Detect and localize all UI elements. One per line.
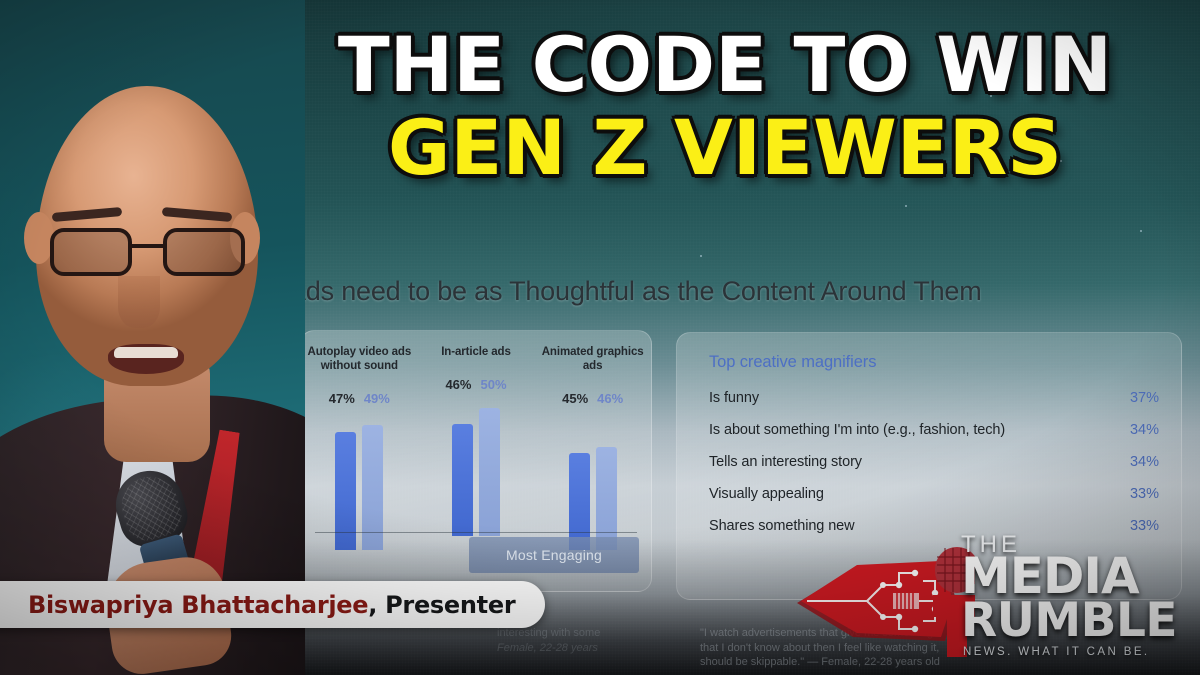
glasses-bridge (132, 244, 167, 248)
presenter-name-banner: Biswapriya Bhattacharjee , Presenter (0, 581, 545, 628)
bar-chart-card: Autoplay video ads without sound 47% 49%… (300, 330, 652, 592)
magnifier-label: Visually appealing (709, 486, 824, 502)
bar-value-light: 49% (364, 391, 390, 406)
glasses-lens-right (163, 228, 245, 276)
slide-quote-left-line2: Female, 22-28 years (497, 641, 647, 656)
bar-group-values: 45% 46% (539, 391, 647, 406)
chart-axis-line (315, 532, 637, 533)
sparkle-dot (700, 255, 702, 257)
most-engaging-banner: Most Engaging (469, 537, 639, 573)
bar-light (596, 447, 617, 550)
bar-group: Autoplay video ads without sound 47% 49% (305, 345, 413, 550)
logo-mark-icon (795, 541, 975, 659)
presenter-mouth (108, 344, 184, 374)
magnifier-row: Tells an interesting story 34% (709, 454, 1159, 470)
bar-group-bars (422, 396, 530, 536)
sparkle-dot (905, 205, 907, 207)
logo-wordmark: THE MEDIA RUMBLE NEWS. WHAT IT CAN BE. (961, 533, 1200, 658)
bar-chart-groups: Autoplay video ads without sound 47% 49%… (301, 345, 651, 550)
bar-group-label: In-article ads (422, 345, 530, 359)
bar-value-light: 46% (597, 391, 623, 406)
magnifier-row: Is about something I'm into (e.g., fashi… (709, 422, 1159, 438)
presenter-photo (0, 0, 305, 675)
bar-value-dark: 45% (562, 391, 588, 406)
thumbnail-title: THE CODE TO WIN GEN Z VIEWERS (300, 28, 1150, 186)
bar-group-label: Autoplay video ads without sound (305, 345, 413, 373)
bar-group-label: Animated graphics ads (539, 345, 647, 373)
presenter-role: , Presenter (368, 591, 515, 619)
glasses-lens-left (50, 228, 132, 276)
magnifier-label: Shares something new (709, 518, 855, 534)
magnifiers-title: Top creative magnifiers (709, 353, 1159, 372)
title-line-2: GEN Z VIEWERS (300, 110, 1150, 186)
glasses-icon (46, 228, 251, 278)
magnifier-label: Is about something I'm into (e.g., fashi… (709, 422, 1005, 438)
bar-group-values: 46% 50% (422, 377, 530, 392)
bar-dark (569, 453, 590, 550)
magnifier-value: 34% (1130, 454, 1159, 470)
bar-value-light: 50% (480, 377, 506, 392)
bar-value-dark: 46% (445, 377, 471, 392)
magnifier-label: Is funny (709, 390, 759, 406)
bar-value-dark: 47% (329, 391, 355, 406)
magnifier-value: 33% (1130, 518, 1159, 534)
magnifier-value: 34% (1130, 422, 1159, 438)
magnifier-value: 37% (1130, 390, 1159, 406)
magnifier-row: Shares something new 33% (709, 518, 1159, 534)
bar-light (479, 408, 500, 536)
presenter-name: Biswapriya Bhattacharjee (28, 591, 368, 619)
slide-quote-left: interesting with some Female, 22-28 year… (497, 626, 647, 655)
presenter-nose (118, 276, 160, 328)
logo-rumble: RUMBLE (961, 599, 1200, 642)
bar-dark (452, 424, 473, 536)
logo-tagline: NEWS. WHAT IT CAN BE. (963, 646, 1200, 658)
bar-group-values: 47% 49% (305, 391, 413, 406)
title-line-1: THE CODE TO WIN (300, 28, 1150, 102)
thumbnail-canvas: Ads need to be as Thoughtful as the Cont… (0, 0, 1200, 675)
slide-quote-left-line1: interesting with some (497, 626, 647, 641)
magnifier-row: Visually appealing 33% (709, 486, 1159, 502)
bar-group-bars (539, 410, 647, 550)
magnifier-value: 33% (1130, 486, 1159, 502)
bar-group: Animated graphics ads 45% 46% (539, 345, 647, 550)
presenter-teeth (114, 347, 178, 358)
magnifier-row: Is funny 37% (709, 390, 1159, 406)
magnifier-label: Tells an interesting story (709, 454, 862, 470)
bar-group: In-article ads 46% 50% (422, 345, 530, 536)
sparkle-dot (1140, 230, 1142, 232)
slide-heading: Ads need to be as Thoughtful as the Cont… (288, 276, 1178, 307)
media-rumble-logo: THE MEDIA RUMBLE NEWS. WHAT IT CAN BE. (795, 533, 1195, 661)
bar-group-bars (305, 410, 413, 550)
